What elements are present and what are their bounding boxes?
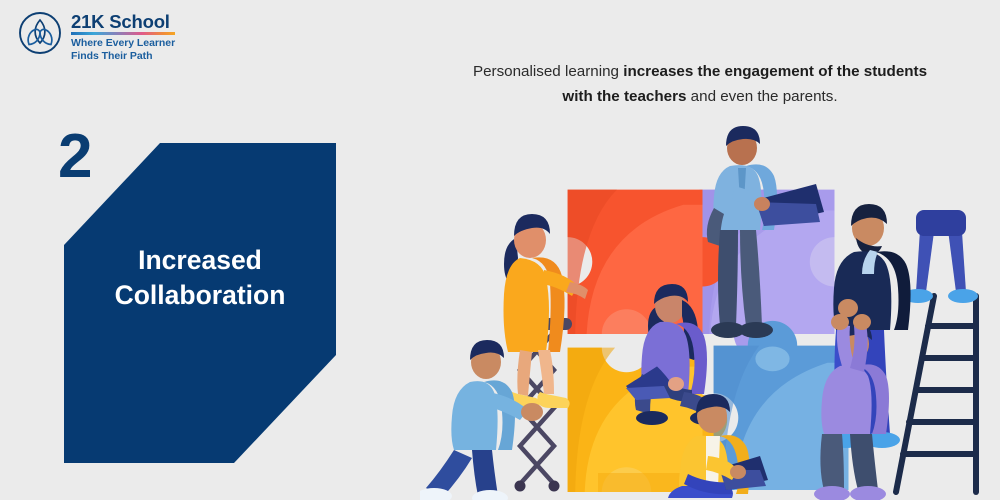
headline-part-1: Personalised learning [473,63,623,80]
step-number: 2 [58,126,92,188]
brand-name: 21K School [71,12,175,31]
person-legs-on-ladder [903,210,978,303]
infographic-slide: 21K School Where Every Learner Finds The… [0,0,1000,500]
brand-text: 21K School Where Every Learner Finds The… [71,11,175,63]
brand-tagline-line-1: Where Every Learner [71,37,175,50]
brand-logo[interactable]: 21K School Where Every Learner Finds The… [18,11,175,63]
brand-gradient-rule [71,32,175,35]
teamwork-puzzle-illustration [420,100,1000,500]
step-banner-shape [64,143,336,463]
lotus-circle-logo-icon [18,11,62,55]
brand-tagline-line-2: Finds Their Path [71,50,175,63]
